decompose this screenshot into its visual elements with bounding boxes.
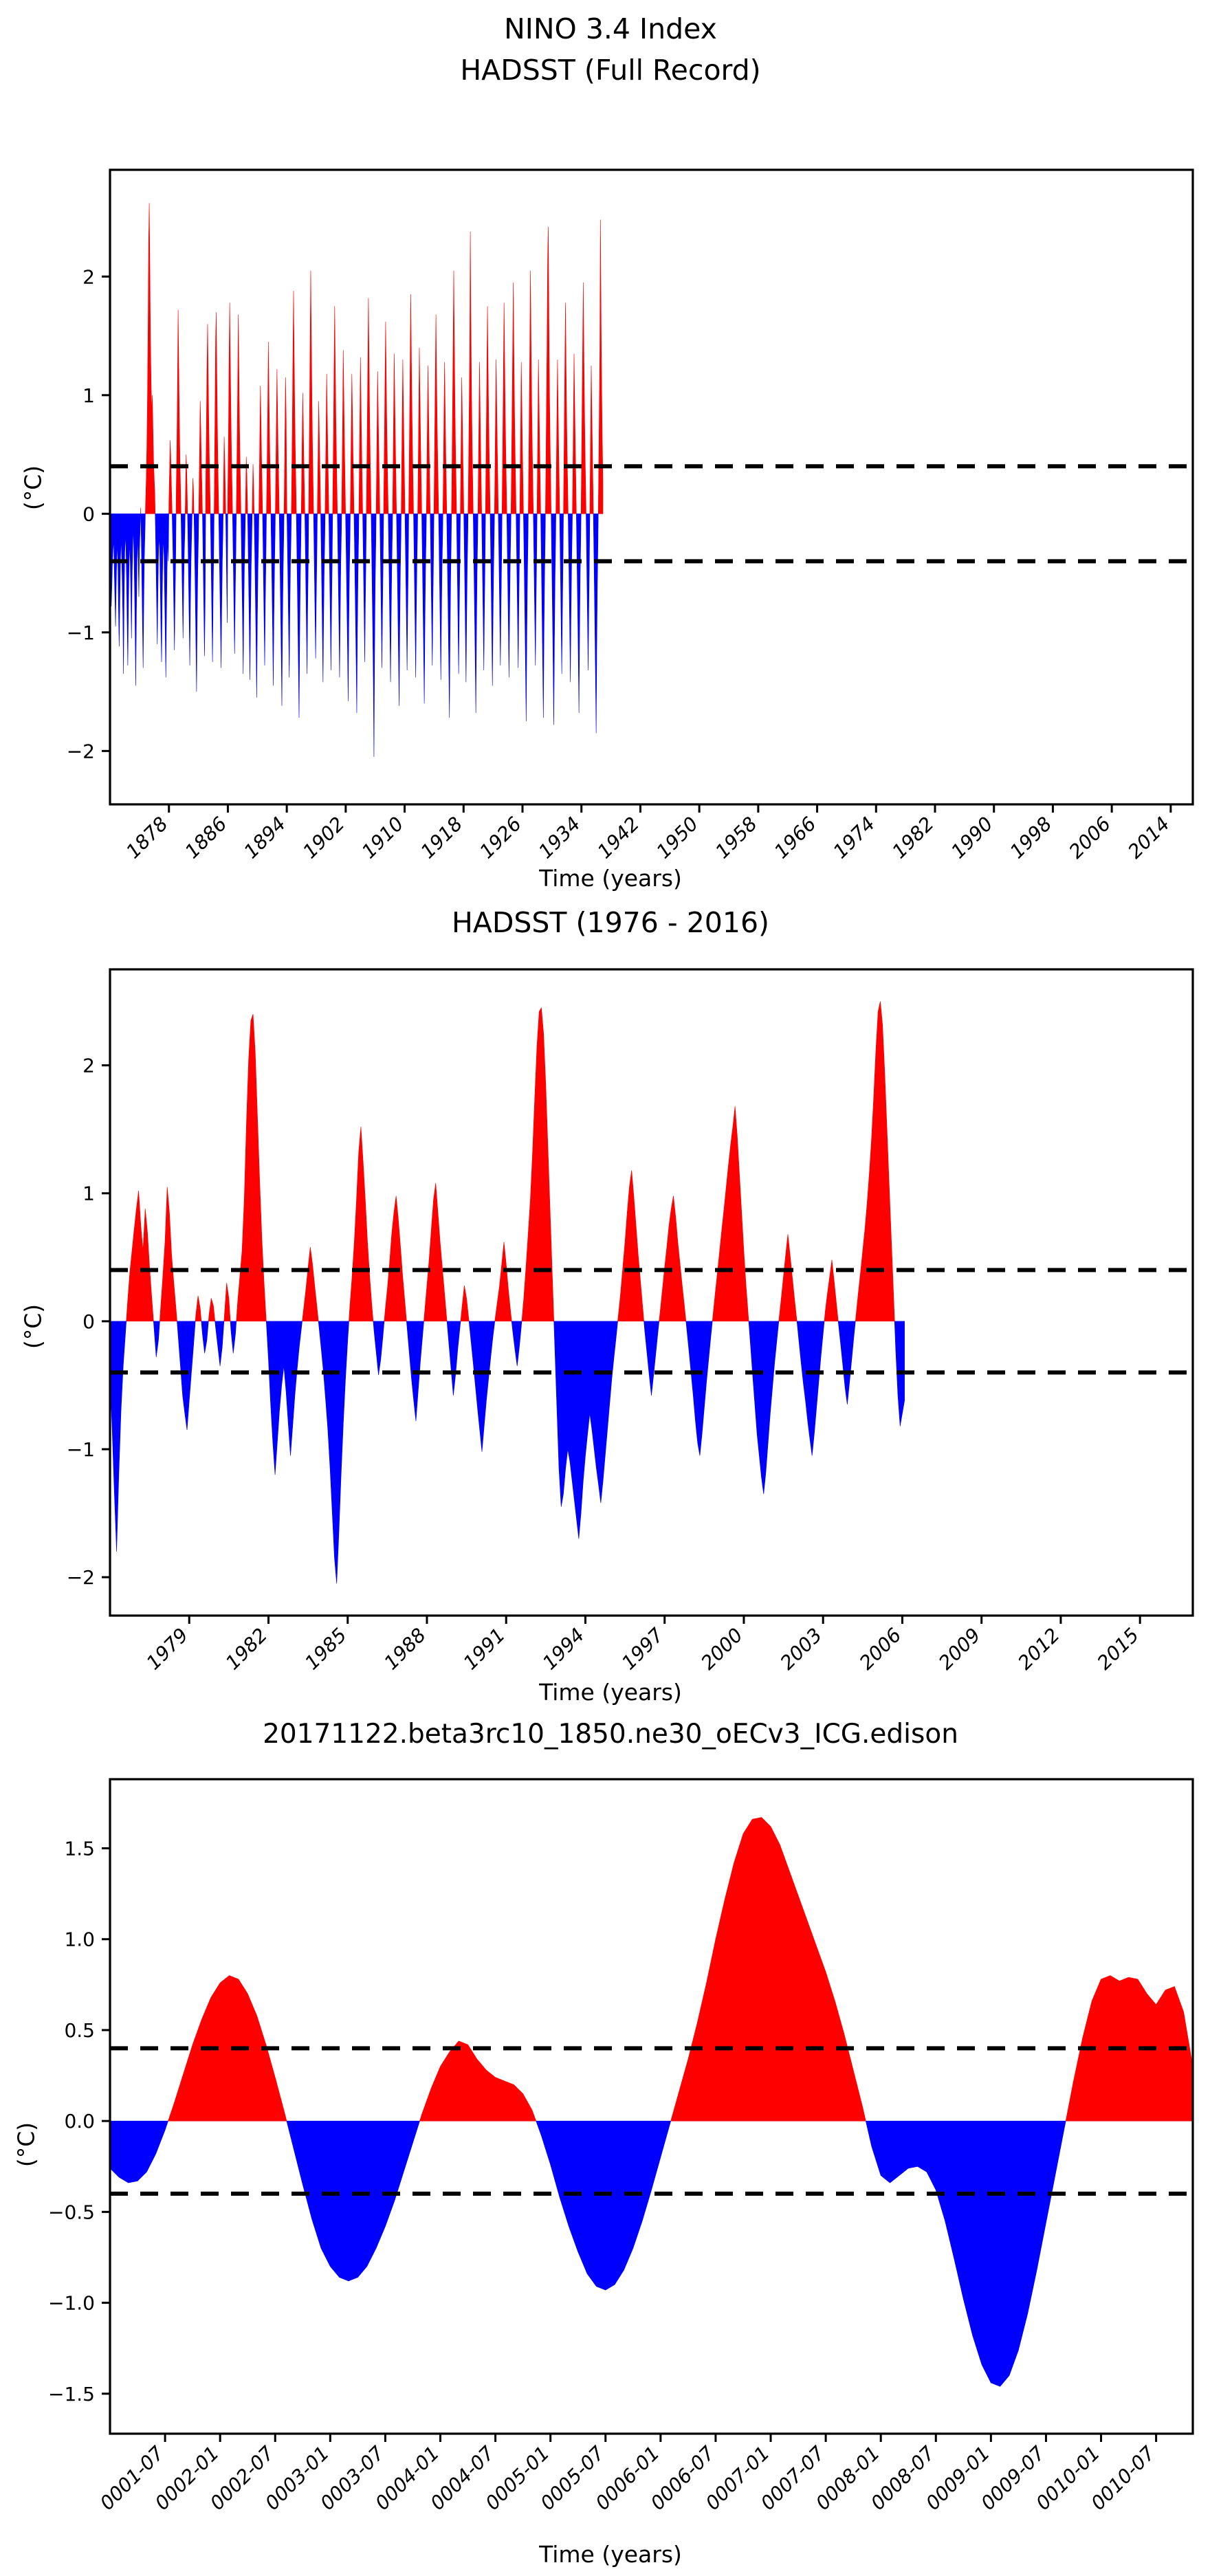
y-tick-label: 0.5 xyxy=(64,2019,95,2042)
x-tick-label: 1988 xyxy=(379,1624,430,1675)
negative-anomaly-fill xyxy=(447,1321,461,1396)
negative-anomaly-fill xyxy=(254,514,259,697)
negative-anomaly-fill xyxy=(456,514,461,674)
x-tick-label: 1934 xyxy=(534,813,585,863)
positive-anomaly-fill xyxy=(478,362,481,514)
negative-anomaly-fill xyxy=(373,1321,384,1375)
positive-anomaly-fill xyxy=(384,322,388,514)
chart-svg-model-run-nino34: −1.5−1.0−0.50.00.51.01.50001-070002-0100… xyxy=(0,1705,1221,2576)
negative-anomaly-fill xyxy=(749,1321,779,1494)
x-tick-label: 2003 xyxy=(775,1624,826,1675)
negative-anomaly-fill xyxy=(482,514,486,670)
positive-anomaly-fill xyxy=(659,1196,686,1321)
negative-anomaly-fill xyxy=(338,514,342,677)
positive-anomaly-fill xyxy=(228,302,232,514)
negative-anomaly-fill xyxy=(379,514,384,668)
x-tick-label: 1979 xyxy=(142,1624,192,1675)
negative-anomaly-fill xyxy=(498,514,502,665)
positive-anomaly-fill xyxy=(485,306,490,514)
negative-anomaly-fill xyxy=(155,514,169,677)
x-tick-label: 2006 xyxy=(1064,813,1115,863)
x-tick-label: 1985 xyxy=(300,1624,351,1675)
negative-anomaly-fill xyxy=(210,514,214,662)
x-tick-label: 1878 xyxy=(122,813,173,863)
data-area-hadsst-1976-2016 xyxy=(110,1002,905,1584)
x-tick-label: 1982 xyxy=(221,1624,272,1675)
negative-anomaly-fill xyxy=(354,514,359,713)
y-tick-label: −1 xyxy=(67,621,95,644)
positive-anomaly-fill xyxy=(185,454,188,514)
negative-anomaly-fill xyxy=(110,514,140,685)
negative-anomaly-fill xyxy=(194,514,199,692)
positive-anomaly-fill xyxy=(252,464,254,514)
negative-anomaly-fill xyxy=(371,514,376,757)
positive-anomaly-fill xyxy=(325,374,329,514)
x-tick-label: 1910 xyxy=(357,813,408,863)
positive-anomaly-fill xyxy=(176,310,181,514)
positive-anomaly-fill xyxy=(349,1127,373,1321)
negative-anomaly-fill xyxy=(141,514,146,668)
x-tick-label: 1966 xyxy=(770,813,821,863)
negative-anomaly-fill xyxy=(540,514,545,718)
negative-anomaly-fill xyxy=(263,514,267,665)
negative-anomaly-fill xyxy=(219,514,223,668)
positive-anomaly-fill xyxy=(494,360,498,514)
positive-anomaly-fill xyxy=(528,271,533,514)
negative-anomaly-fill xyxy=(363,514,366,662)
panel-hadsst-full-record: HADSST (Full Record) (°C) −2−10121878188… xyxy=(0,0,1221,887)
x-tick-label: 1997 xyxy=(617,1623,668,1674)
negative-anomaly-fill xyxy=(397,514,401,705)
y-tick-label: 1 xyxy=(82,384,95,407)
positive-anomaly-fill xyxy=(573,353,577,514)
negative-anomaly-fill xyxy=(177,1321,195,1430)
negative-anomaly-fill xyxy=(247,514,252,680)
positive-anomaly-fill xyxy=(393,353,397,514)
positive-anomaly-fill xyxy=(522,1008,554,1321)
negative-anomaly-fill xyxy=(586,514,589,670)
x-tick-label: 1998 xyxy=(1006,813,1057,863)
positive-anomaly-fill xyxy=(169,440,173,514)
positive-anomaly-fill xyxy=(779,1234,797,1321)
negative-anomaly-fill xyxy=(523,514,528,721)
x-tick-label: 2014 xyxy=(1123,813,1174,863)
x-tick-label: 1991 xyxy=(459,1624,509,1675)
negative-anomaly-fill xyxy=(554,1321,618,1539)
panel-model-run: 20171122.beta3rc10_1850.ne30_oECv3_ICG.e… xyxy=(0,1705,1221,2576)
negative-anomaly-fill xyxy=(405,514,408,670)
positive-anomaly-fill xyxy=(301,393,305,514)
positive-anomaly-fill xyxy=(426,366,430,514)
positive-anomaly-fill xyxy=(502,302,507,514)
positive-anomaly-fill xyxy=(618,1170,644,1321)
positive-anomaly-fill xyxy=(267,342,271,514)
x-tick-label: 2012 xyxy=(1013,1624,1064,1675)
negative-anomaly-fill xyxy=(576,514,581,713)
x-tick-label: 1894 xyxy=(239,813,290,863)
positive-anomaly-fill xyxy=(376,371,379,514)
positive-anomaly-fill xyxy=(384,1196,406,1321)
positive-anomaly-fill xyxy=(495,1242,511,1321)
negative-anomaly-fill xyxy=(313,514,317,658)
plot-area-1: −2−1012187818861894190219101918192619341… xyxy=(0,0,1221,887)
x-tick-label: 1990 xyxy=(947,813,998,863)
negative-anomaly-fill xyxy=(866,2121,1066,2386)
negative-anomaly-fill xyxy=(593,514,598,733)
positive-anomaly-fill xyxy=(581,283,586,514)
negative-anomaly-fill xyxy=(172,514,176,650)
plot-area-2: −2−1012197919821985198819911994199720002… xyxy=(0,887,1221,1705)
negative-anomaly-fill xyxy=(346,514,351,701)
positive-anomaly-fill xyxy=(434,314,439,514)
y-tick-label: 1 xyxy=(82,1182,95,1205)
negative-anomaly-fill xyxy=(153,1321,159,1357)
x-tick-label: 1994 xyxy=(538,1624,589,1675)
negative-anomaly-fill xyxy=(110,1321,126,1552)
negative-anomaly-fill xyxy=(271,514,276,685)
negative-anomaly-fill xyxy=(686,1321,712,1455)
negative-anomaly-fill xyxy=(430,514,434,665)
negative-anomaly-fill xyxy=(201,1321,208,1354)
positive-anomaly-fill xyxy=(192,478,194,514)
x-tick-label: 1902 xyxy=(298,813,349,863)
positive-anomaly-fill xyxy=(318,401,321,514)
negative-anomaly-fill xyxy=(318,1321,349,1584)
negative-anomaly-fill xyxy=(305,514,309,674)
negative-anomaly-fill xyxy=(266,1321,302,1475)
negative-anomaly-fill xyxy=(388,514,393,682)
negative-anomaly-fill xyxy=(507,514,511,677)
positive-anomaly-fill xyxy=(401,360,405,514)
chart-svg-hadsst-1976-2016: −2−1012197919821985198819911994199720002… xyxy=(0,887,1221,1705)
y-tick-label: 0 xyxy=(82,503,95,525)
negative-anomaly-fill xyxy=(181,514,185,638)
positive-anomaly-fill xyxy=(126,1191,154,1321)
positive-anomaly-fill xyxy=(224,1283,230,1321)
positive-anomaly-fill xyxy=(351,374,354,514)
positive-anomaly-fill xyxy=(199,401,202,514)
x-tick-label: 2006 xyxy=(855,1624,906,1675)
negative-anomaly-fill xyxy=(560,514,564,674)
negative-anomaly-fill xyxy=(490,514,494,685)
x-tick-label: 1918 xyxy=(417,813,467,863)
y-tick-label: 0 xyxy=(82,1310,95,1333)
negative-anomaly-fill xyxy=(279,514,284,705)
x-tick-label: 2000 xyxy=(696,1624,747,1675)
y-tick-label: −1.0 xyxy=(48,2292,95,2315)
data-area-hadsst-full-record xyxy=(110,203,603,757)
negative-anomaly-fill xyxy=(447,514,452,718)
negative-anomaly-fill xyxy=(533,514,537,665)
x-tick-label: 1926 xyxy=(475,813,526,863)
positive-anomaly-fill xyxy=(291,291,296,514)
positive-anomaly-fill xyxy=(208,1298,214,1321)
negative-anomaly-fill xyxy=(215,1321,224,1366)
positive-anomaly-fill xyxy=(223,437,226,514)
negative-anomaly-fill xyxy=(110,2121,168,2183)
negative-anomaly-fill xyxy=(536,2121,671,2290)
negative-anomaly-fill xyxy=(1200,2121,1221,2270)
nino34-figure: NINO 3.4 Index HADSST (Full Record) (°C)… xyxy=(0,0,1221,2576)
positive-anomaly-fill xyxy=(275,369,279,514)
y-tick-label: 1.5 xyxy=(64,1837,95,1860)
negative-anomaly-fill xyxy=(797,1321,824,1455)
x-tick-label: 2015 xyxy=(1092,1624,1143,1675)
x-tick-label: 1974 xyxy=(829,813,880,863)
y-tick-label: −1.5 xyxy=(48,2383,95,2406)
x-tick-label: 1958 xyxy=(711,813,762,863)
negative-anomaly-fill xyxy=(230,1321,236,1354)
positive-anomaly-fill xyxy=(855,1002,894,1321)
negative-anomaly-fill xyxy=(188,514,192,665)
positive-anomaly-fill xyxy=(520,362,523,514)
positive-anomaly-fill xyxy=(206,324,210,514)
negative-anomaly-fill xyxy=(464,514,468,682)
negative-anomaly-fill xyxy=(511,1321,522,1366)
positive-anomaly-fill xyxy=(443,362,447,514)
chart-svg-hadsst-full-record: −2−1012187818861894190219101918192619341… xyxy=(0,0,1221,887)
negative-anomaly-fill xyxy=(202,514,206,656)
positive-anomaly-fill xyxy=(712,1106,749,1321)
positive-anomaly-fill xyxy=(423,1183,447,1321)
negative-anomaly-fill xyxy=(439,514,443,680)
positive-anomaly-fill xyxy=(590,366,593,514)
negative-anomaly-fill xyxy=(838,1321,855,1405)
negative-anomaly-fill xyxy=(225,514,228,623)
negative-anomaly-fill xyxy=(320,514,324,682)
positive-anomaly-fill xyxy=(598,219,603,514)
panel-hadsst-1976-2016: HADSST (1976 - 2016) (°C) −2−10121979198… xyxy=(0,887,1221,1705)
positive-anomaly-fill xyxy=(195,1296,201,1321)
y-tick-label: −2 xyxy=(67,1566,95,1589)
positive-anomaly-fill xyxy=(409,294,414,514)
y-tick-label: 0.0 xyxy=(64,2110,95,2133)
plot-area-3: −1.5−1.0−0.50.00.51.01.50001-070002-0100… xyxy=(0,1705,1221,2576)
data-area-model-run-nino34 xyxy=(110,1818,1221,2387)
negative-anomaly-fill xyxy=(551,514,556,725)
y-tick-label: 2 xyxy=(82,265,95,288)
negative-anomaly-fill xyxy=(516,514,520,668)
positive-anomaly-fill xyxy=(302,1247,319,1321)
axes-frame xyxy=(110,170,1193,804)
negative-anomaly-fill xyxy=(644,1321,659,1396)
y-tick-label: −0.5 xyxy=(48,2201,95,2223)
y-tick-label: 2 xyxy=(82,1055,95,1077)
positive-anomaly-fill xyxy=(556,360,560,514)
positive-anomaly-fill xyxy=(537,360,540,514)
positive-anomaly-fill xyxy=(236,1014,267,1321)
positive-anomaly-fill xyxy=(419,2041,536,2121)
y-tick-label: 1.0 xyxy=(64,1928,95,1951)
negative-anomaly-fill xyxy=(296,514,301,718)
negative-anomaly-fill xyxy=(241,514,245,674)
positive-anomaly-fill xyxy=(366,298,371,514)
positive-anomaly-fill xyxy=(511,283,516,514)
negative-anomaly-fill xyxy=(414,514,418,677)
x-tick-label: 1886 xyxy=(181,813,232,863)
positive-anomaly-fill xyxy=(259,386,263,514)
negative-anomaly-fill xyxy=(473,514,478,713)
positive-anomaly-fill xyxy=(545,227,551,514)
positive-anomaly-fill xyxy=(461,377,464,514)
x-tick-label: 1982 xyxy=(888,813,938,863)
x-tick-label: 2009 xyxy=(934,1624,985,1675)
x-tick-label: 1942 xyxy=(593,813,644,863)
positive-anomaly-fill xyxy=(461,1286,469,1321)
negative-anomaly-fill xyxy=(287,2121,420,2281)
positive-anomaly-fill xyxy=(284,377,287,514)
negative-anomaly-fill xyxy=(287,514,291,677)
positive-anomaly-fill xyxy=(671,1818,866,2122)
axes-frame xyxy=(110,969,1193,1616)
positive-anomaly-fill xyxy=(214,312,219,514)
positive-anomaly-fill xyxy=(333,306,338,514)
positive-anomaly-fill xyxy=(342,350,346,514)
positive-anomaly-fill xyxy=(359,357,363,514)
x-axis-label-2: Time (years) xyxy=(0,1679,1221,1706)
y-tick-label: −2 xyxy=(67,740,95,762)
x-tick-label: 1950 xyxy=(652,813,703,863)
positive-anomaly-fill xyxy=(564,302,569,514)
negative-anomaly-fill xyxy=(568,514,572,682)
positive-anomaly-fill xyxy=(452,271,456,514)
negative-anomaly-fill xyxy=(421,514,426,703)
positive-anomaly-fill xyxy=(159,1187,177,1321)
positive-anomaly-fill xyxy=(468,232,473,514)
positive-anomaly-fill xyxy=(309,271,313,514)
negative-anomaly-fill xyxy=(329,514,333,670)
positive-anomaly-fill xyxy=(236,314,241,514)
positive-anomaly-fill xyxy=(418,348,422,514)
negative-anomaly-fill xyxy=(232,514,236,654)
x-axis-label-3: Time (years) xyxy=(0,2541,1221,2568)
y-tick-label: −1 xyxy=(67,1438,95,1461)
negative-anomaly-fill xyxy=(469,1321,495,1452)
